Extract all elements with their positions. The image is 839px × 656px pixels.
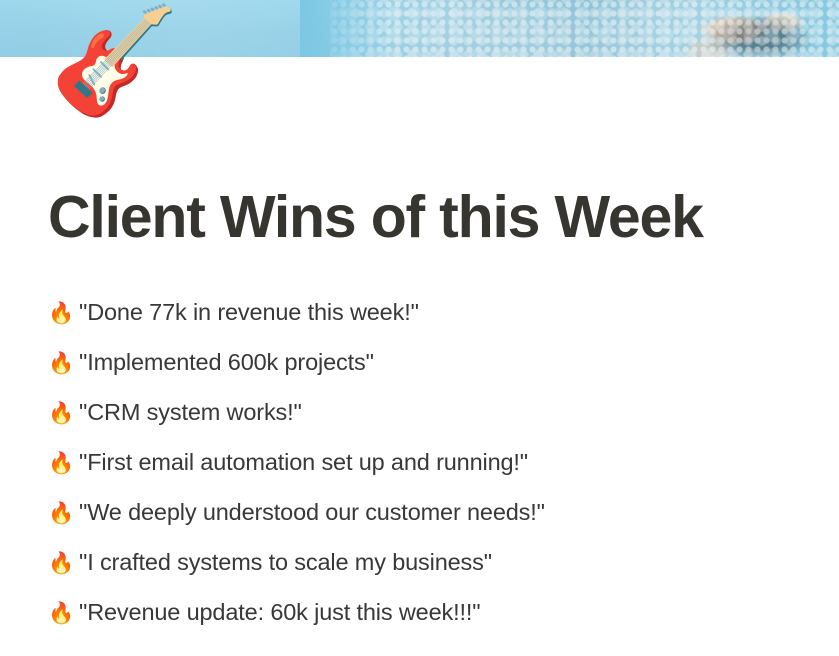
list-item-text: "Revenue update: 60k just this week!!!": [79, 599, 480, 626]
fire-icon: 🔥: [48, 603, 79, 624]
list-item: 🔥 "I crafted systems to scale my busines…: [48, 549, 808, 599]
list-item-text: "I crafted systems to scale my business": [79, 549, 492, 576]
list-item-text: "CRM system works!": [79, 399, 302, 426]
list-item: 🔥 "Done 77k in revenue this week!": [48, 299, 808, 349]
guitar-icon[interactable]: 🎸: [50, 2, 168, 126]
cover-water-foam-texture: [330, 0, 839, 57]
list-item-text: "We deeply understood our customer needs…: [79, 499, 545, 526]
list-item: 🔥 "Implemented 600k projects": [48, 349, 808, 399]
list-item-text: "First email automation set up and runni…: [79, 449, 528, 476]
list-item: 🔥 "First email automation set up and run…: [48, 449, 808, 499]
fire-icon: 🔥: [48, 453, 79, 474]
cover-seam-gradient: [300, 0, 390, 57]
client-wins-list: 🔥 "Done 77k in revenue this week!" 🔥 "Im…: [48, 299, 808, 649]
fire-icon: 🔥: [48, 303, 79, 324]
list-item: 🔥 "We deeply understood our customer nee…: [48, 499, 808, 549]
fire-icon: 🔥: [48, 353, 79, 374]
fire-icon: 🔥: [48, 503, 79, 524]
fire-icon: 🔥: [48, 403, 79, 424]
list-item-text: "Implemented 600k projects": [79, 349, 374, 376]
list-item: 🔥 "CRM system works!": [48, 399, 808, 449]
fire-icon: 🔥: [48, 553, 79, 574]
page-content: Client Wins of this Week 🔥 "Done 77k in …: [0, 57, 839, 656]
page-title: Client Wins of this Week: [48, 183, 703, 251]
list-item-text: "Done 77k in revenue this week!": [79, 299, 419, 326]
list-item: 🔥 "Revenue update: 60k just this week!!!…: [48, 599, 808, 649]
